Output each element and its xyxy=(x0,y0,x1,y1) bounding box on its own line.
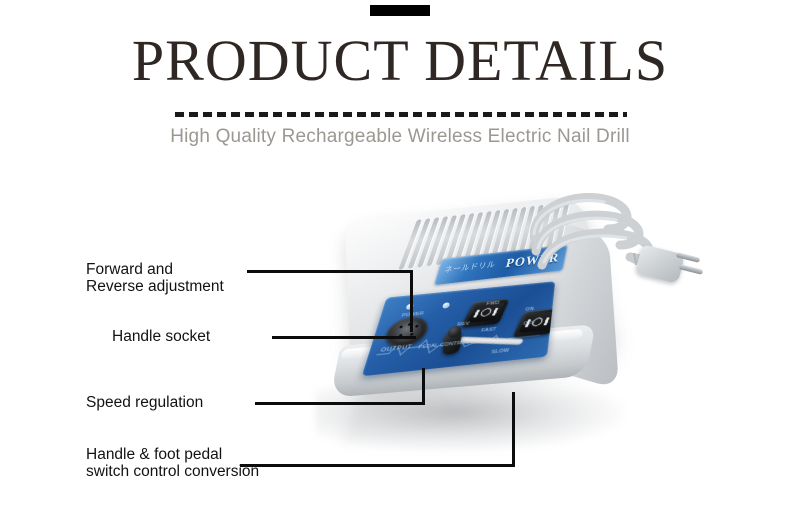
callout-label-handle-socket: Handle socket xyxy=(112,328,210,345)
panel-label-slow: SLOW xyxy=(491,348,510,355)
callout-label-speed-regulation: Speed regulation xyxy=(86,394,203,411)
leader-line-handle-socket xyxy=(272,336,416,339)
callout-label-pedal-switch: Handle & foot pedal switch control conve… xyxy=(86,446,259,480)
page-subtitle: High Quality Rechargeable Wireless Elect… xyxy=(0,124,800,150)
cord-curves xyxy=(530,185,720,320)
page-title: PRODUCT DETAILS xyxy=(0,30,800,92)
leader-line-pedal-horizontal xyxy=(240,464,515,467)
power-cord xyxy=(530,185,720,320)
leader-line-forward-reverse-vertical xyxy=(410,270,413,332)
status-led xyxy=(442,302,450,308)
leader-line-speed-vertical xyxy=(422,368,425,404)
nameplate-subtext: ネールドリル xyxy=(443,259,497,275)
leader-line-speed-horizontal xyxy=(255,402,425,405)
callout-label-forward-reverse: Forward and Reverse adjustment xyxy=(86,261,224,295)
leader-line-pedal-vertical xyxy=(512,392,515,466)
product-image: ネールドリル POWER xyxy=(300,185,720,475)
product-details-banner: PRODUCT DETAILS High Quality Rechargeabl… xyxy=(0,0,800,529)
socket-inner xyxy=(390,320,424,344)
decorative-top-bar xyxy=(370,5,430,16)
dashed-divider xyxy=(175,112,627,117)
leader-line-forward-reverse-horizontal xyxy=(247,270,413,273)
